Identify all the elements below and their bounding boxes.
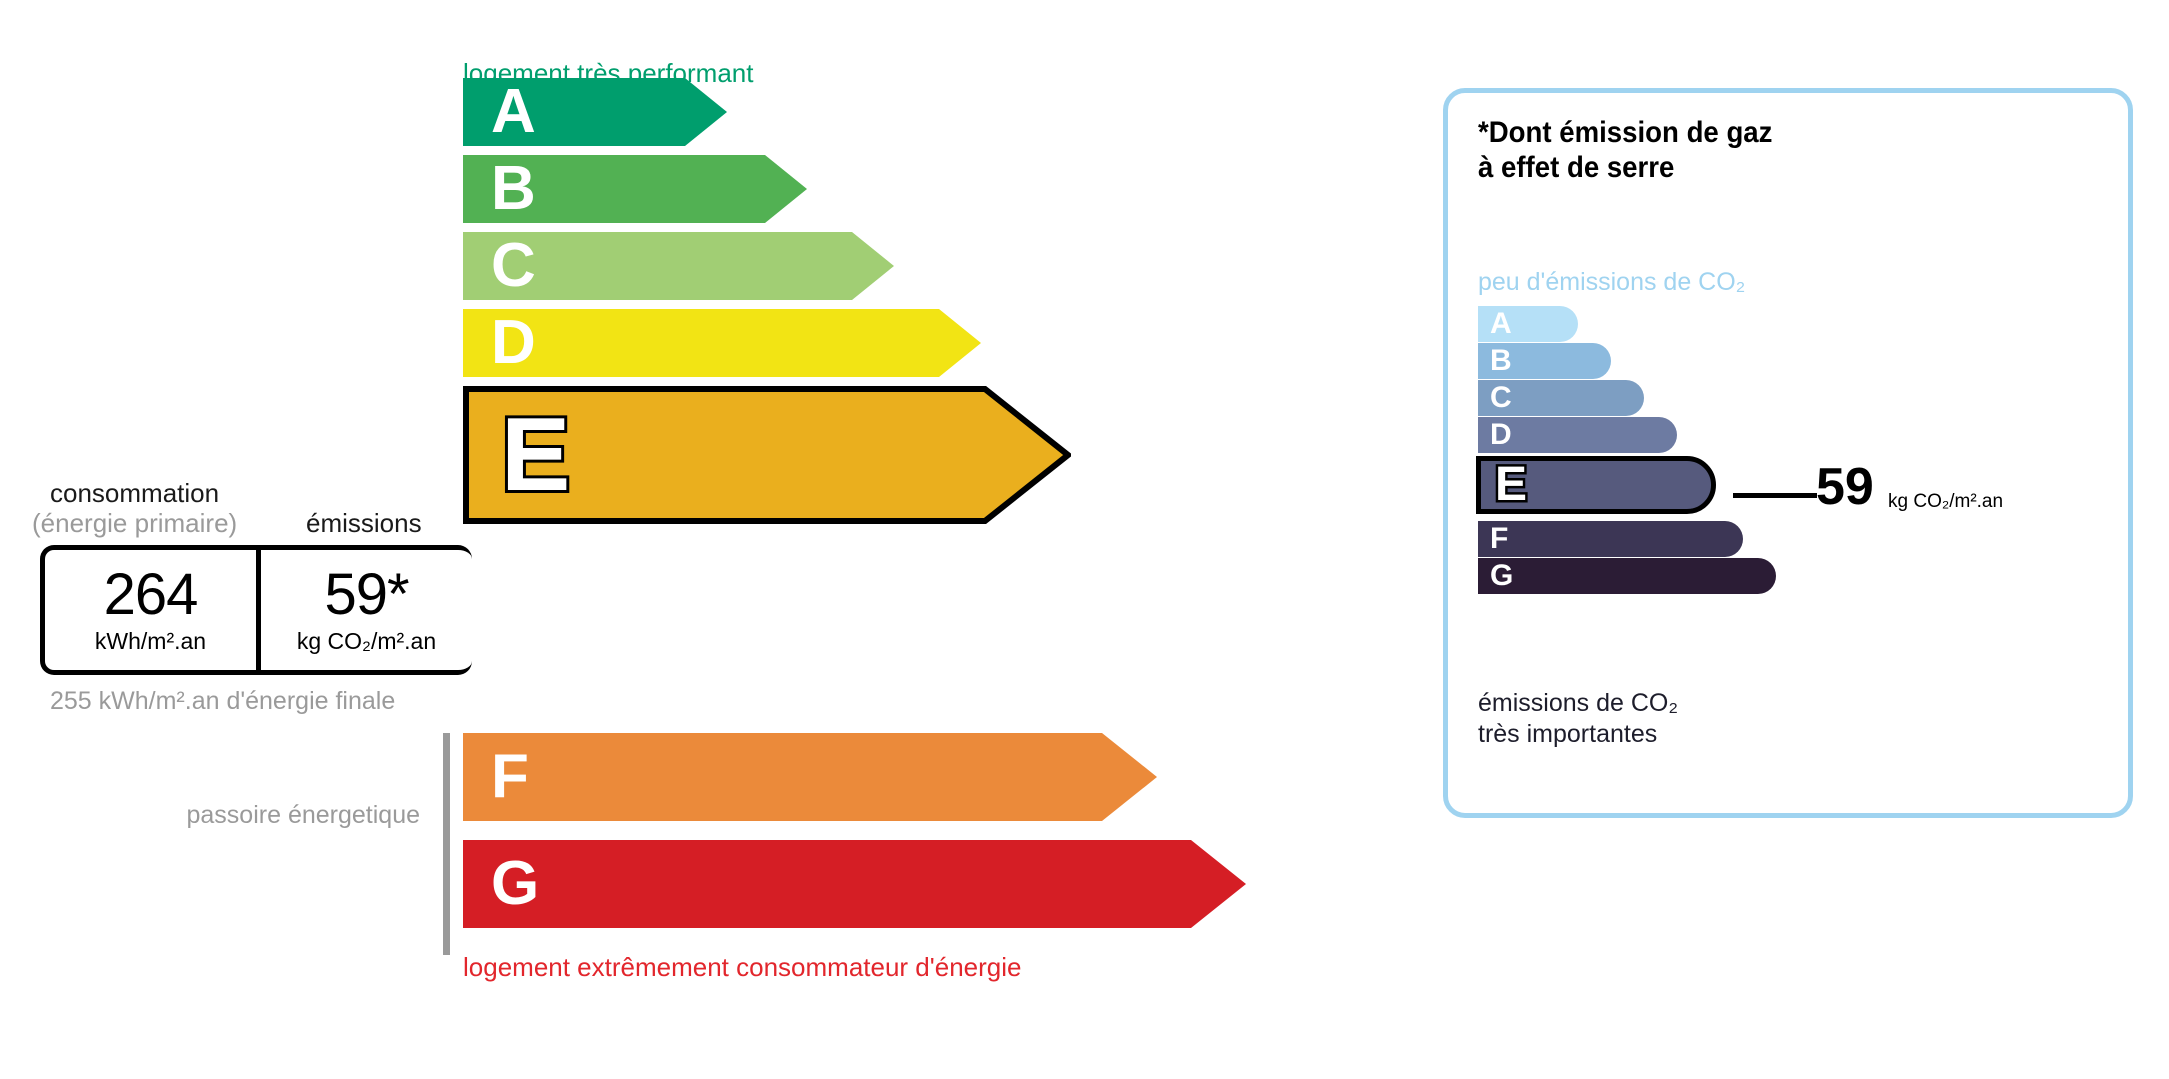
energy-bar-d: D [463,309,981,377]
energy-bar-letter-b: B [491,158,536,220]
energy-bar-f: F [463,733,1157,821]
ghg-bar-g: G [1478,558,1776,594]
ghg-emissions-panel: *Dont émission de gaz à effet de serre p… [1443,88,2133,818]
ghg-bar-letter-b: B [1490,346,1512,376]
energy-bar-letter-d: D [491,312,536,374]
ghg-bar-letter-e: E [1495,461,1527,509]
energy-bar-letter-e: E [501,403,570,507]
energy-bar-letter-c: C [491,235,536,297]
ghg-value: 59 [1816,461,1874,513]
ghg-bar-b: B [1478,343,1611,379]
emission-cell: 59* kg CO₂/m².an [256,550,472,670]
ghg-leader-line [1733,493,1817,498]
value-box: 264 kWh/m².an 59* kg CO₂/m².an [40,545,472,675]
ghg-bar-e: E [1476,456,1716,514]
emission-unit: kg CO₂/m².an [297,628,436,655]
energy-performance-diagram: logement très performant ABCDEFG consomm… [0,0,1300,1079]
energy-bar-shape-d [463,309,981,377]
ghg-bar-letter-c: C [1490,383,1512,413]
energy-bar-letter-a: A [491,81,536,143]
energy-bar-b: B [463,155,807,223]
final-energy-label: 255 kWh/m².an d'énergie finale [50,686,395,717]
ghg-bar-c: C [1478,380,1644,416]
ghg-bar-letter-d: D [1490,420,1512,450]
ghg-bar-letter-f: F [1490,524,1508,554]
consumption-label: consommation [50,478,219,509]
energy-bar-shape-f [463,733,1157,821]
energy-bar-g: G [463,840,1246,928]
primary-energy-label: (énergie primaire) [32,508,237,539]
emission-value: 59* [324,566,408,624]
ghg-value-unit: kg CO₂/m².an [1888,491,2003,513]
energy-bar-e: E [463,386,1071,524]
energy-bar-letter-g: G [491,853,539,915]
consumption-unit: kWh/m².an [95,628,206,655]
energy-bar-letter-f: F [491,746,529,808]
ghg-bar-a: A [1478,306,1578,342]
ghg-top-caption: peu d'émissions de CO₂ [1478,268,1745,297]
emissions-label: émissions [306,508,422,539]
energy-sieve-label: passoire énergetique [180,800,420,831]
ghg-bar-d: D [1478,417,1677,453]
ghg-bar-letter-a: A [1490,309,1512,339]
ghg-bar-letter-g: G [1490,561,1513,591]
energy-bar-shape-g [463,840,1246,928]
consumption-value: 264 [104,566,198,624]
energy-bar-a: A [463,78,727,146]
energy-sieve-bracket [443,733,450,955]
energy-bar-c: C [463,232,894,300]
consumption-cell: 264 kWh/m².an [45,550,256,670]
scale-bottom-caption: logement extrêmement consommateur d'éner… [463,952,1021,983]
ghg-bar-f: F [1478,521,1743,557]
ghg-bottom-caption: émissions de CO₂ très importantes [1478,688,1678,749]
ghg-panel-title: *Dont émission de gaz à effet de serre [1478,115,1772,185]
